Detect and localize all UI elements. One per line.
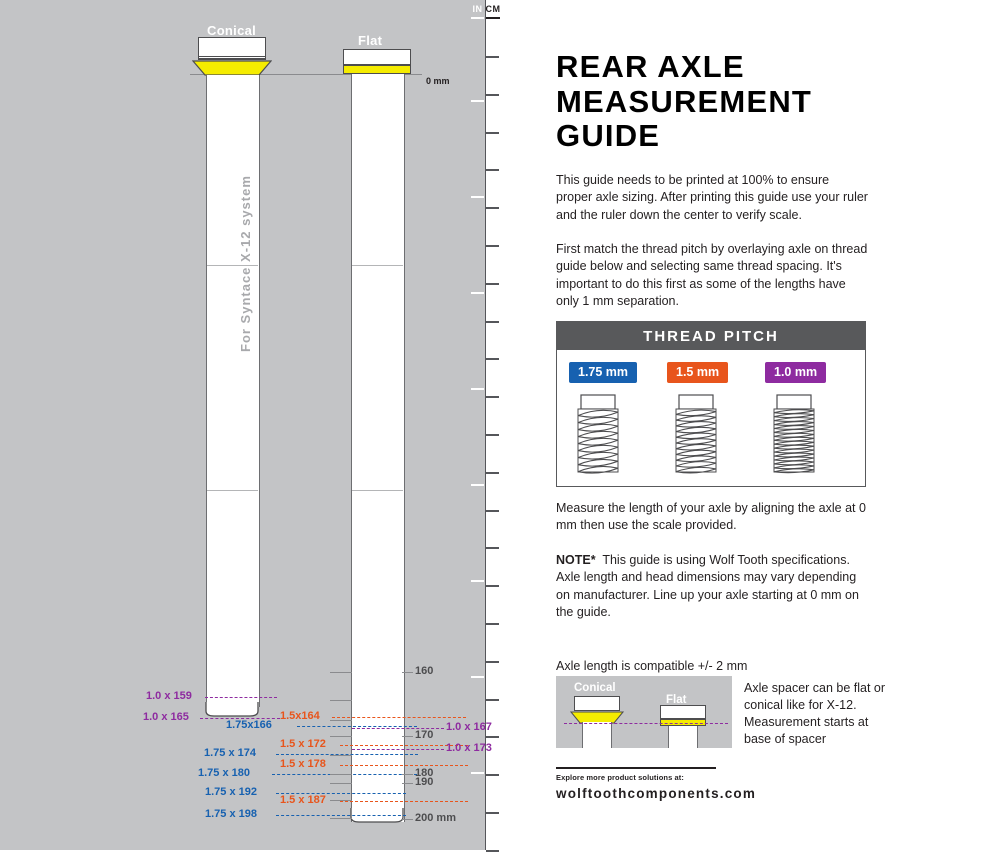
measurement-label: 1.5 x 187 [280, 794, 326, 806]
scale-tick [402, 783, 413, 784]
measurement-leader [332, 717, 466, 718]
measurement-leader [352, 749, 444, 750]
spacer-example-box: Conical Flat [556, 676, 732, 748]
measurement-label: 1.5 x 178 [280, 758, 326, 770]
scale-number: 170 [415, 729, 433, 741]
spacer-description: Axle spacer can be flat or conical like … [744, 680, 894, 748]
spacer-conical-shaft [582, 722, 612, 748]
title-line-2: MEASUREMENT [556, 85, 936, 120]
scale-number: 190 [415, 776, 433, 788]
footer-tagline: Explore more product solutions at: [556, 773, 684, 782]
thread-pitch-badge: 1.5 mm [667, 362, 728, 383]
scale-minor-tick [330, 783, 352, 784]
bolt-icon [771, 394, 827, 478]
scale-minor-tick [330, 720, 352, 721]
intro-paragraph: This guide needs to be printed at 100% t… [556, 172, 868, 224]
bolt-icon [575, 394, 631, 478]
thread-pitch-options: 1.75 mm1.5 mm1.0 mm [557, 350, 865, 487]
info-panel: REAR AXLE MEASUREMENT GUIDE This guide n… [500, 0, 1000, 850]
scale-minor-tick [330, 755, 352, 756]
axle-measurement-guide: IN CM 0 mm Conical For Syntace X-12 syst… [0, 0, 1000, 850]
measurement-leader [297, 726, 417, 727]
measurement-label: 1.75 x 198 [205, 808, 257, 820]
scale-minor-tick [330, 774, 352, 775]
scale-minor-tick [330, 800, 352, 801]
note-label: NOTE* [556, 553, 596, 567]
title-line-1: REAR AXLE [556, 50, 936, 85]
measurement-label: 1.75 x 180 [198, 767, 250, 779]
thread-pitch-card: THREAD PITCH 1.75 mm1.5 mm1.0 mm [556, 321, 866, 487]
scale-number: 160 [415, 665, 433, 677]
page-title: REAR AXLE MEASUREMENT GUIDE [556, 50, 936, 154]
measurement-label: 1.75x166 [226, 719, 272, 731]
thread-pitch-badge: 1.75 mm [569, 362, 637, 383]
measurement-leader [340, 765, 468, 766]
scale-minor-tick [330, 672, 352, 673]
measure-paragraph: Measure the length of your axle by align… [556, 500, 868, 535]
measurement-label: 1.0 x 165 [143, 711, 189, 723]
spacer-conical-label: Conical [574, 682, 616, 694]
measurement-label-layer: 1.0 x 1591.0 x 1651.75x1661.75 x 1741.75… [0, 0, 500, 850]
note-paragraph: NOTE* This guide is using Wolf Tooth spe… [556, 552, 868, 621]
measurement-label: 1.5x164 [280, 710, 320, 722]
scale-tick [402, 774, 413, 775]
measurement-label: 1.0 x 159 [146, 690, 192, 702]
measurement-leader [340, 801, 468, 802]
scale-number: 200 mm [415, 812, 456, 824]
scale-minor-tick [330, 818, 352, 819]
spacer-base-line [564, 723, 728, 724]
measurement-leader [205, 697, 277, 698]
measurement-label: 1.0 x 167 [446, 721, 492, 733]
bolt-icon [673, 394, 729, 478]
scale-tick [402, 672, 413, 673]
thread-pitch-badge: 1.0 mm [765, 362, 826, 383]
thread-pitch-paragraph: First match the thread pitch by overlayi… [556, 241, 868, 310]
measurement-label: 1.75 x 174 [204, 747, 256, 759]
spacer-flat-shaft [668, 726, 698, 748]
scale-tick [402, 819, 413, 820]
measurement-label: 1.0 x 173 [446, 742, 492, 754]
note-body: This guide is using Wolf Tooth specifica… [556, 553, 859, 619]
spacer-flat-head [660, 705, 706, 719]
scale-tick [402, 736, 413, 737]
title-line-3: GUIDE [556, 119, 936, 154]
thread-pitch-heading: THREAD PITCH [557, 322, 865, 350]
ruler-cm-tick [486, 850, 499, 852]
tolerance-paragraph: Axle length is compatible +/- 2 mm [556, 658, 868, 675]
measurement-leader [276, 815, 406, 816]
measurement-label: 1.75 x 192 [205, 786, 257, 798]
spacer-conical-head [574, 696, 620, 711]
footer-url[interactable]: wolftoothcomponents.com [556, 786, 756, 801]
footer-divider [556, 767, 716, 769]
scale-minor-tick [330, 700, 352, 701]
measurement-label: 1.5 x 172 [280, 738, 326, 750]
scale-minor-tick [330, 736, 352, 737]
